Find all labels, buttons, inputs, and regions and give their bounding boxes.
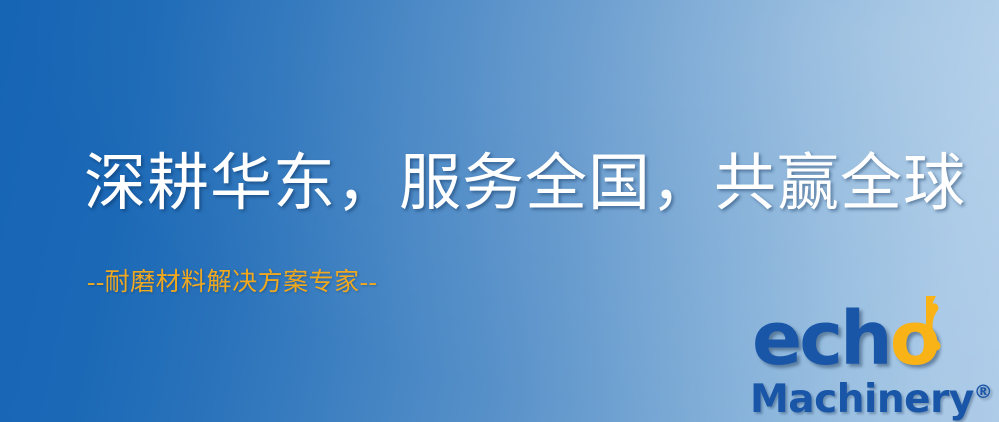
logo-tagline: Machinery (750, 377, 974, 422)
logo-wordmark-accent-o: o (890, 302, 938, 376)
banner-subtitle: --耐磨材料解决方案专家-- (87, 268, 377, 298)
logo-wordmark-primary: ech (752, 302, 890, 376)
hero-banner: 深耕华东，服务全国，共赢全球 --耐磨材料解决方案专家-- echo Machi… (0, 0, 999, 422)
company-logo[interactable]: echo Machinery® (744, 296, 999, 422)
logo-wordmark: echo (752, 302, 938, 376)
banner-headline: 深耕华东，服务全国，共赢全球 (84, 152, 966, 217)
registered-trademark-icon: ® (974, 381, 993, 403)
logo-tagline-row: Machinery® (750, 372, 993, 420)
